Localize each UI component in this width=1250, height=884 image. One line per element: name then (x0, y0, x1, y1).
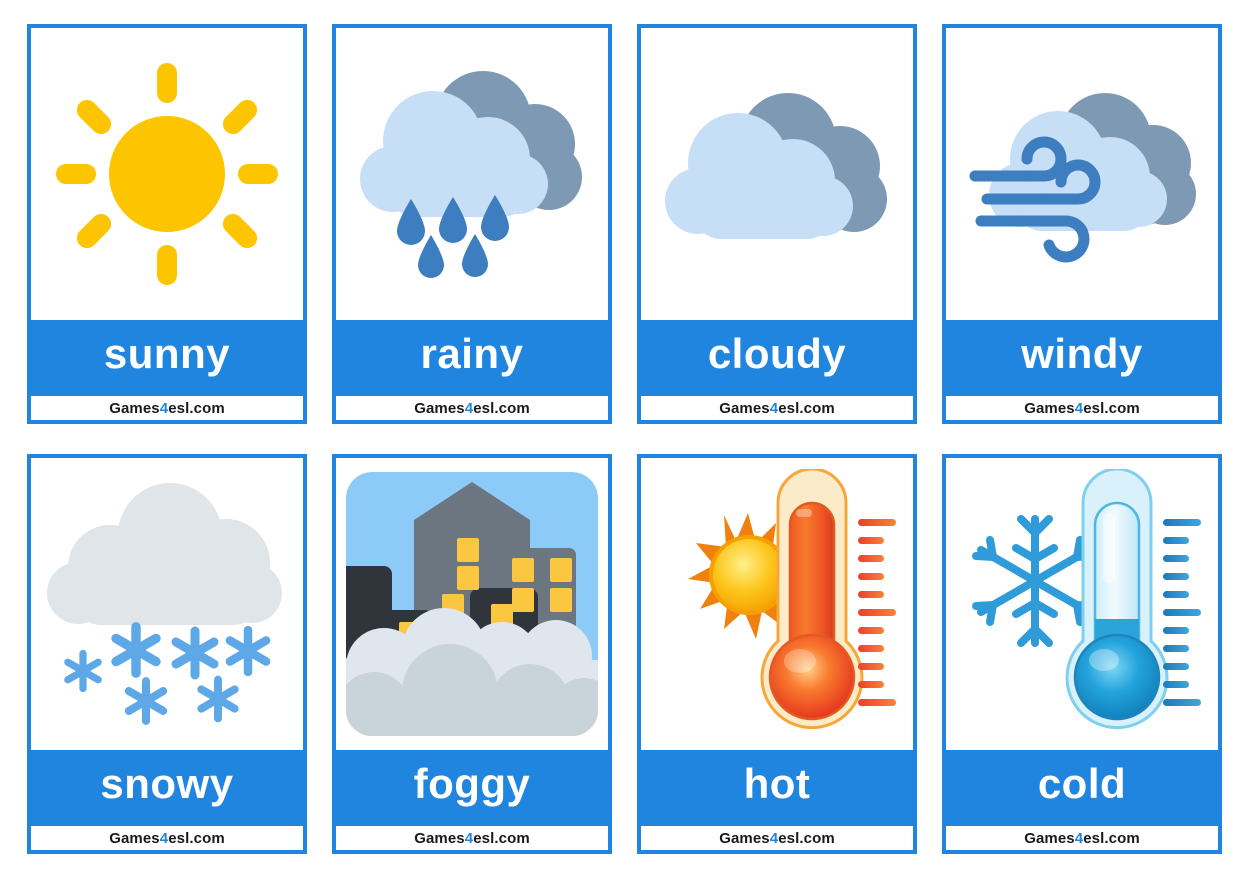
cold-thermometer-icon (957, 469, 1207, 739)
thermometer-body (762, 469, 862, 728)
flashcard-hot[interactable]: hot Games4esl.com (637, 454, 917, 854)
flashcard-label-cloudy: cloudy (641, 320, 913, 392)
flashcard-label-windy: windy (946, 320, 1218, 392)
scale-ticks (858, 519, 896, 706)
flashcard-cold[interactable]: cold Games4esl.com (942, 454, 1222, 854)
brand-watermark: Games4esl.com (1024, 830, 1140, 847)
flashcard-footer-snowy: Games4esl.com (31, 822, 303, 850)
flashcard-label-foggy: foggy (336, 750, 608, 822)
flashcard-label-hot: hot (641, 750, 913, 822)
flashcard-art-cold (946, 458, 1218, 750)
snowflake (976, 519, 1094, 643)
flashcard-windy[interactable]: windy Games4esl.com (942, 24, 1222, 424)
brand-watermark: Games4esl.com (719, 830, 835, 847)
brand-watermark: Games4esl.com (109, 830, 225, 847)
brand-watermark: Games4esl.com (719, 400, 835, 417)
cloud-icon (648, 49, 906, 299)
flashcard-art-windy (946, 28, 1218, 320)
flashcard-footer-hot: Games4esl.com (641, 822, 913, 850)
hot-thermometer-icon (652, 469, 902, 739)
flashcard-art-hot (641, 458, 913, 750)
flashcard-foggy[interactable]: foggy Games4esl.com (332, 454, 612, 854)
snow-cloud-icon (38, 475, 296, 733)
raindrops (397, 195, 509, 278)
flashcard-footer-windy: Games4esl.com (946, 392, 1218, 420)
flashcard-sunny[interactable]: sunny Games4esl.com (27, 24, 307, 424)
thermometer-body (1067, 469, 1167, 728)
flashcard-art-rainy (336, 28, 608, 320)
flashcard-footer-sunny: Games4esl.com (31, 392, 303, 420)
snowflakes (68, 627, 266, 721)
flashcard-footer-cold: Games4esl.com (946, 822, 1218, 850)
flashcard-footer-rainy: Games4esl.com (336, 392, 608, 420)
flashcard-art-foggy (336, 458, 608, 750)
brand-watermark: Games4esl.com (1024, 400, 1140, 417)
flashcard-footer-cloudy: Games4esl.com (641, 392, 913, 420)
flashcard-art-sunny (31, 28, 303, 320)
flashcard-art-cloudy (641, 28, 913, 320)
flashcard-cloudy[interactable]: cloudy Games4esl.com (637, 24, 917, 424)
flashcard-label-sunny: sunny (31, 320, 303, 392)
flashcard-art-snowy (31, 458, 303, 750)
flashcard-label-rainy: rainy (336, 320, 608, 392)
foggy-city-icon (344, 470, 600, 738)
brand-watermark: Games4esl.com (414, 400, 530, 417)
flashcard-footer-foggy: Games4esl.com (336, 822, 608, 850)
rain-cloud-icon (343, 49, 601, 299)
scale-ticks (1163, 519, 1201, 706)
brand-watermark: Games4esl.com (109, 400, 225, 417)
flashcard-label-cold: cold (946, 750, 1218, 822)
wind-cloud-icon (953, 49, 1211, 299)
flashcard-rainy[interactable]: rainy Games4esl.com (332, 24, 612, 424)
flashcard-sheet: sunny Games4esl.com (0, 0, 1250, 884)
snow-cloud (47, 483, 282, 625)
flashcard-label-snowy: snowy (31, 750, 303, 822)
brand-watermark: Games4esl.com (414, 830, 530, 847)
flashcard-snowy[interactable]: snowy Games4esl.com (27, 454, 307, 854)
sun-icon (42, 49, 292, 299)
